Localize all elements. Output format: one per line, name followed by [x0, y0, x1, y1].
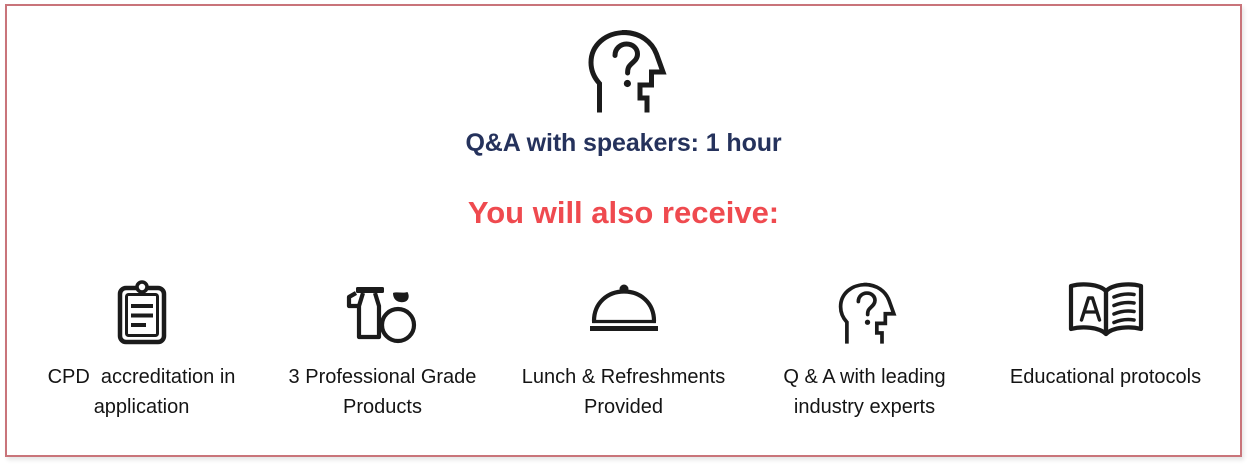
qa-heading: Q&A with speakers: 1 hour: [7, 130, 1240, 158]
feature-label: Lunch & Refreshments Provided: [507, 362, 740, 423]
feature-list: CPD accreditation in application 3 Profe…: [7, 280, 1240, 423]
clipboard-icon: [25, 280, 258, 350]
feature-item: Q & A with leading industry experts: [744, 280, 985, 423]
feature-item: Lunch & Refreshments Provided: [503, 280, 744, 423]
head-question-icon: [748, 280, 981, 350]
feature-item: CPD accreditation in application: [21, 280, 262, 423]
feature-label: 3 Professional Grade Products: [266, 362, 499, 423]
open-book-icon: [989, 280, 1222, 350]
feature-label: Educational protocols: [989, 362, 1222, 392]
feature-item: 3 Professional Grade Products: [262, 280, 503, 423]
spray-bottle-icon: [266, 280, 499, 350]
promo-panel: Q&A with speakers: 1 hour You will also …: [5, 4, 1242, 457]
feature-label: CPD accreditation in application: [25, 362, 258, 423]
feature-item: Educational protocols: [985, 280, 1226, 392]
head-question-icon: [7, 28, 1240, 116]
feature-label: Q & A with leading industry experts: [748, 362, 981, 423]
header-block: Q&A with speakers: 1 hour You will also …: [7, 28, 1240, 230]
receive-heading: You will also receive:: [7, 196, 1240, 230]
food-cloche-icon: [507, 280, 740, 350]
